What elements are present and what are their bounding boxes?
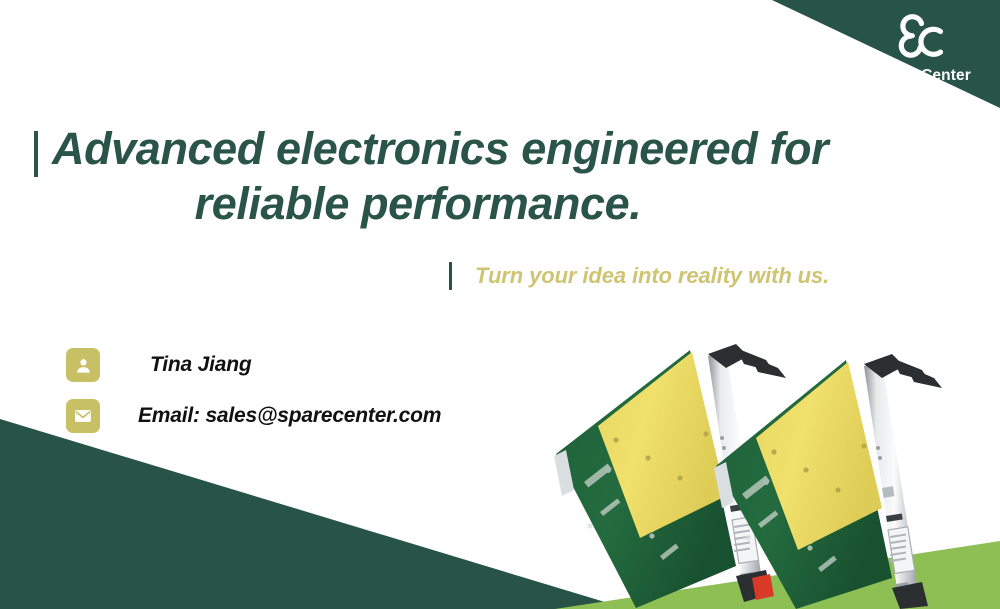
module-right-top-ejector [864, 354, 942, 388]
brand-wordmark: Spare Center [862, 67, 982, 84]
module-left-edge-connector [554, 450, 574, 496]
module-right-components [742, 460, 860, 572]
module-right-yellow-panel [756, 362, 882, 550]
contact-row-email[interactable]: Email: sales@sparecenter.com [66, 399, 441, 433]
module-left-components [584, 448, 704, 560]
contact-email-text: Email: sales@sparecenter.com [100, 404, 441, 428]
headline-block: Advanced electronics engineered for reli… [34, 122, 914, 232]
module-right-bottom-ejector [892, 582, 928, 609]
module-right-edge-connector [714, 462, 734, 508]
promo-banner: Spare Center Advanced electronics engine… [0, 0, 1000, 609]
module-left-yellow-panel [598, 352, 726, 538]
tagline-text: Turn your idea into reality with us. [452, 263, 829, 289]
product-module-left [554, 344, 786, 608]
product-photo [540, 330, 1000, 609]
bottom-right-light-green-wedge [555, 541, 1000, 609]
headline-line-2: reliable performance. [52, 177, 914, 232]
module-left-pcb [556, 350, 736, 608]
brand-logo: Spare Center [862, 14, 982, 84]
module-right-panel-screws [771, 443, 866, 492]
page-title: Advanced electronics engineered for reli… [34, 122, 914, 232]
product-module-right [714, 354, 942, 609]
contact-block: Tina Jiang Email: sales@sparecenter.com [66, 348, 441, 450]
module-right-rail-details [876, 446, 915, 589]
tagline-block: Turn your idea into reality with us. [449, 262, 829, 290]
module-right-pcb [716, 360, 892, 609]
module-left-bottom-ejector [736, 570, 774, 602]
person-icon-badge [66, 348, 100, 382]
background-shapes [0, 0, 1000, 609]
envelope-icon-badge [66, 399, 100, 433]
module-left-top-ejector [708, 344, 786, 378]
contact-row-name: Tina Jiang [66, 348, 441, 382]
module-left-panel-screws [613, 431, 708, 480]
sc-monogram-logo-icon [891, 14, 953, 66]
module-left-red-tab [752, 574, 774, 600]
person-icon [74, 356, 93, 375]
module-left-front-rail [708, 352, 764, 600]
headline-line-1: Advanced electronics engineered for [52, 122, 914, 177]
module-right-front-rail [864, 362, 920, 609]
headline-accent-bar [34, 131, 38, 177]
module-left-rail-details [720, 436, 759, 579]
contact-name-text: Tina Jiang [100, 353, 251, 377]
envelope-icon [73, 406, 93, 426]
